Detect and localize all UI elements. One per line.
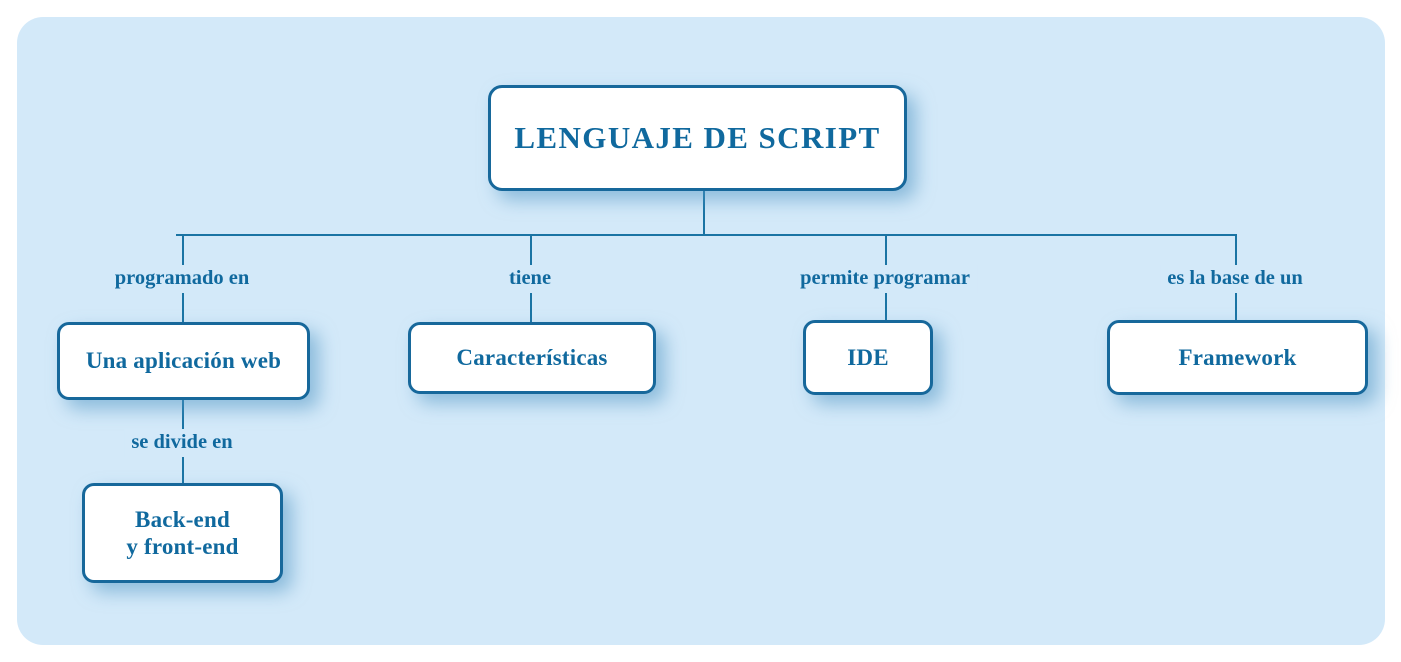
- connector-horizontal-bus: [176, 234, 1236, 236]
- edge-label-es-la-base-de-un: es la base de un: [1160, 265, 1310, 293]
- connector-root-stem: [703, 190, 705, 235]
- node-back-end-y-front-end[interactable]: Back-end y front-end: [82, 483, 283, 583]
- edge-label-programado-en: programado en: [108, 265, 257, 293]
- node-una-aplicacion-web[interactable]: Una aplicación web: [57, 322, 310, 400]
- edge-label-permite-programar: permite programar: [793, 265, 977, 293]
- diagram-canvas: LENGUAJE DE SCRIPT Una aplicación web Ca…: [0, 0, 1401, 662]
- node-label: IDE: [847, 344, 889, 371]
- node-label: LENGUAJE DE SCRIPT: [514, 120, 880, 156]
- node-label-line-2: y front-end: [126, 533, 238, 560]
- edge-label-se-divide-en: se divide en: [124, 429, 239, 457]
- node-caracteristicas[interactable]: Características: [408, 322, 656, 394]
- node-ide[interactable]: IDE: [803, 320, 933, 395]
- node-lenguaje-de-script[interactable]: LENGUAJE DE SCRIPT: [488, 85, 907, 191]
- node-label: Características: [456, 344, 607, 371]
- node-framework[interactable]: Framework: [1107, 320, 1368, 395]
- edge-label-tiene: tiene: [502, 265, 558, 293]
- node-label: Framework: [1178, 344, 1296, 371]
- node-label-line-1: Back-end: [135, 506, 230, 533]
- node-label: Una aplicación web: [86, 347, 281, 374]
